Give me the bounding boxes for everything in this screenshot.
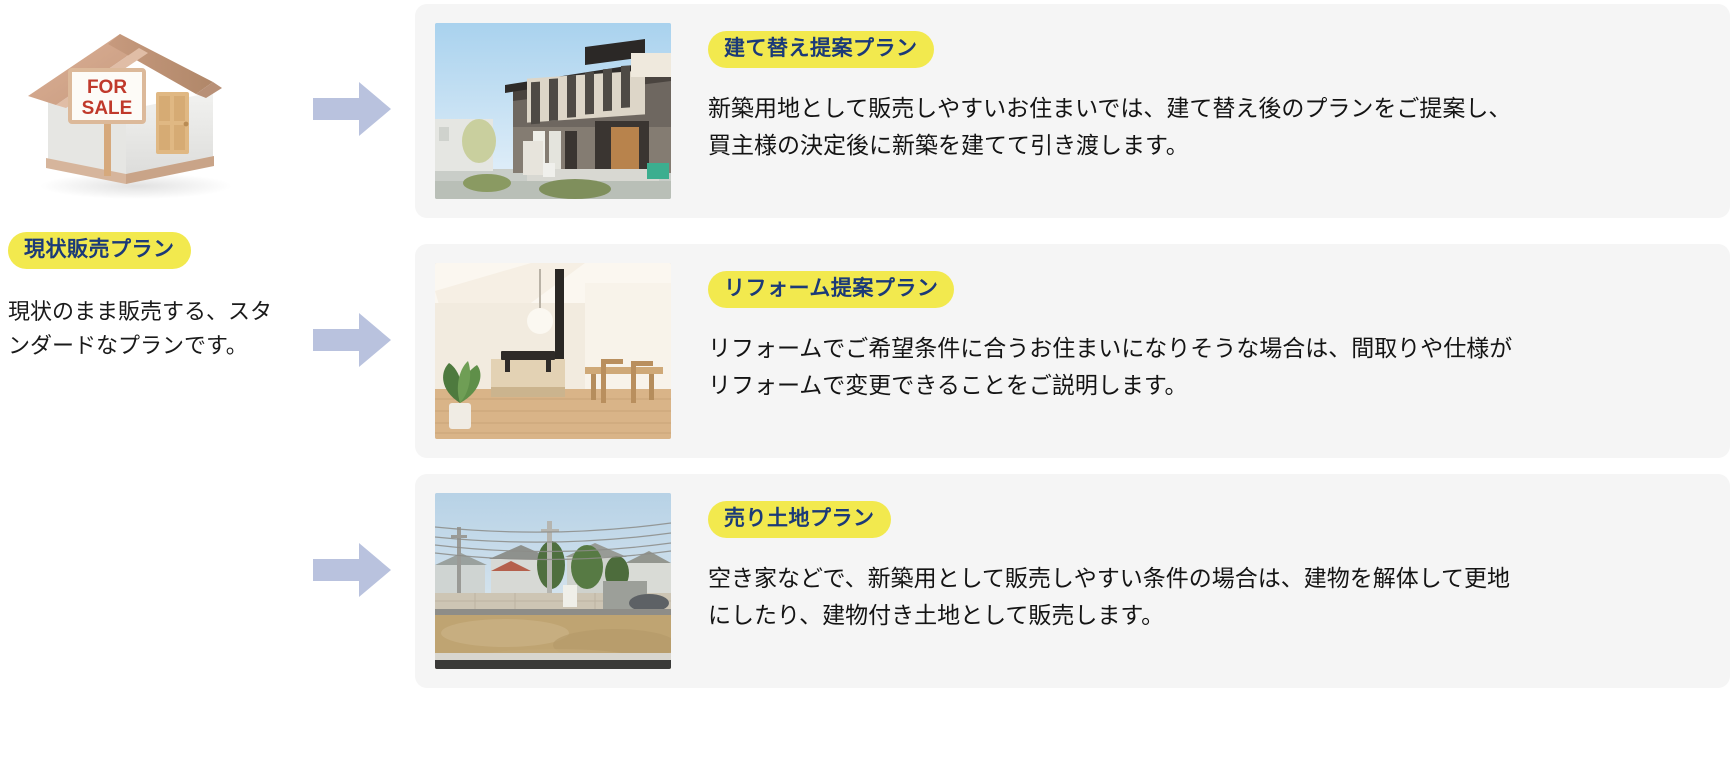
plan-text-land: 空き家などで、新築用として販売しやすい条件の場合は、建物を解体して更地 にしたり… <box>708 560 1548 634</box>
plan-text-reform-line-1: リフォームでご希望条件に合うお住まいになりそうな場合は、間取りや仕様が <box>708 330 1548 367</box>
for-sale-sign: FOR SALE <box>70 70 144 122</box>
plan-card-reform-body: リフォーム提案プラン リフォームでご希望条件に合うお住まいになりそうな場合は、間… <box>708 263 1730 404</box>
new-build-house-photo <box>435 23 671 199</box>
plan-text-reform-line-2: リフォームで変更できることをご説明します。 <box>708 367 1548 404</box>
plan-badge-rebuild: 建て替え提案プラン <box>708 31 934 68</box>
plan-text-rebuild: 新築用地として販売しやすいお住まいでは、建て替え後のプランをご提案し、 買主様の… <box>708 90 1548 164</box>
vacant-land-photo <box>435 493 671 669</box>
current-plan-description-line-1: 現状のまま販売する、スタ <box>8 299 272 324</box>
plan-card-land-body: 売り土地プラン 空き家などで、新築用として販売しやすい条件の場合は、建物を解体し… <box>708 493 1730 634</box>
current-plan-description-line-2: ンダードなプランです。 <box>8 333 248 358</box>
reform-interior-photo <box>435 263 671 439</box>
diagram-canvas: FOR SALE 現状販売プラン 現状のまま販売する、スタ ンダードなプランです… <box>0 0 1730 766</box>
arrow-right-icon-1 <box>313 80 391 138</box>
current-plan-description: 現状のまま販売する、スタ ンダードなプランです。 <box>8 295 298 363</box>
arrow-right-icon-2 <box>313 311 391 369</box>
plan-text-reform: リフォームでご希望条件に合うお住まいになりそうな場合は、間取りや仕様が リフォー… <box>708 330 1548 404</box>
plan-card-rebuild[interactable]: 建て替え提案プラン 新築用地として販売しやすいお住まいでは、建て替え後のプランを… <box>415 4 1730 218</box>
for-sale-line2: SALE <box>82 98 133 119</box>
plan-card-reform[interactable]: リフォーム提案プラン リフォームでご希望条件に合うお住まいになりそうな場合は、間… <box>415 244 1730 458</box>
plan-text-land-line-1: 空き家などで、新築用として販売しやすい条件の場合は、建物を解体して更地 <box>708 560 1548 597</box>
arrow-right-icon-3 <box>313 541 391 599</box>
house-for-sale-illustration: FOR SALE <box>8 4 263 204</box>
plan-card-land[interactable]: 売り土地プラン 空き家などで、新築用として販売しやすい条件の場合は、建物を解体し… <box>415 474 1730 688</box>
current-plan-badge: 現状販売プラン <box>8 232 191 269</box>
plan-card-rebuild-body: 建て替え提案プラン 新築用地として販売しやすいお住まいでは、建て替え後のプランを… <box>708 23 1730 164</box>
plan-badge-reform: リフォーム提案プラン <box>708 271 954 308</box>
current-plan-column: FOR SALE 現状販売プラン 現状のまま販売する、スタ ンダードなプランです… <box>8 4 308 363</box>
plan-text-land-line-2: にしたり、建物付き土地として販売します。 <box>708 597 1548 634</box>
plan-text-rebuild-line-1: 新築用地として販売しやすいお住まいでは、建て替え後のプランをご提案し、 <box>708 90 1548 127</box>
plan-badge-land: 売り土地プラン <box>708 501 891 538</box>
for-sale-line1: FOR <box>87 77 127 98</box>
plan-text-rebuild-line-2: 買主様の決定後に新築を建てて引き渡します。 <box>708 127 1548 164</box>
